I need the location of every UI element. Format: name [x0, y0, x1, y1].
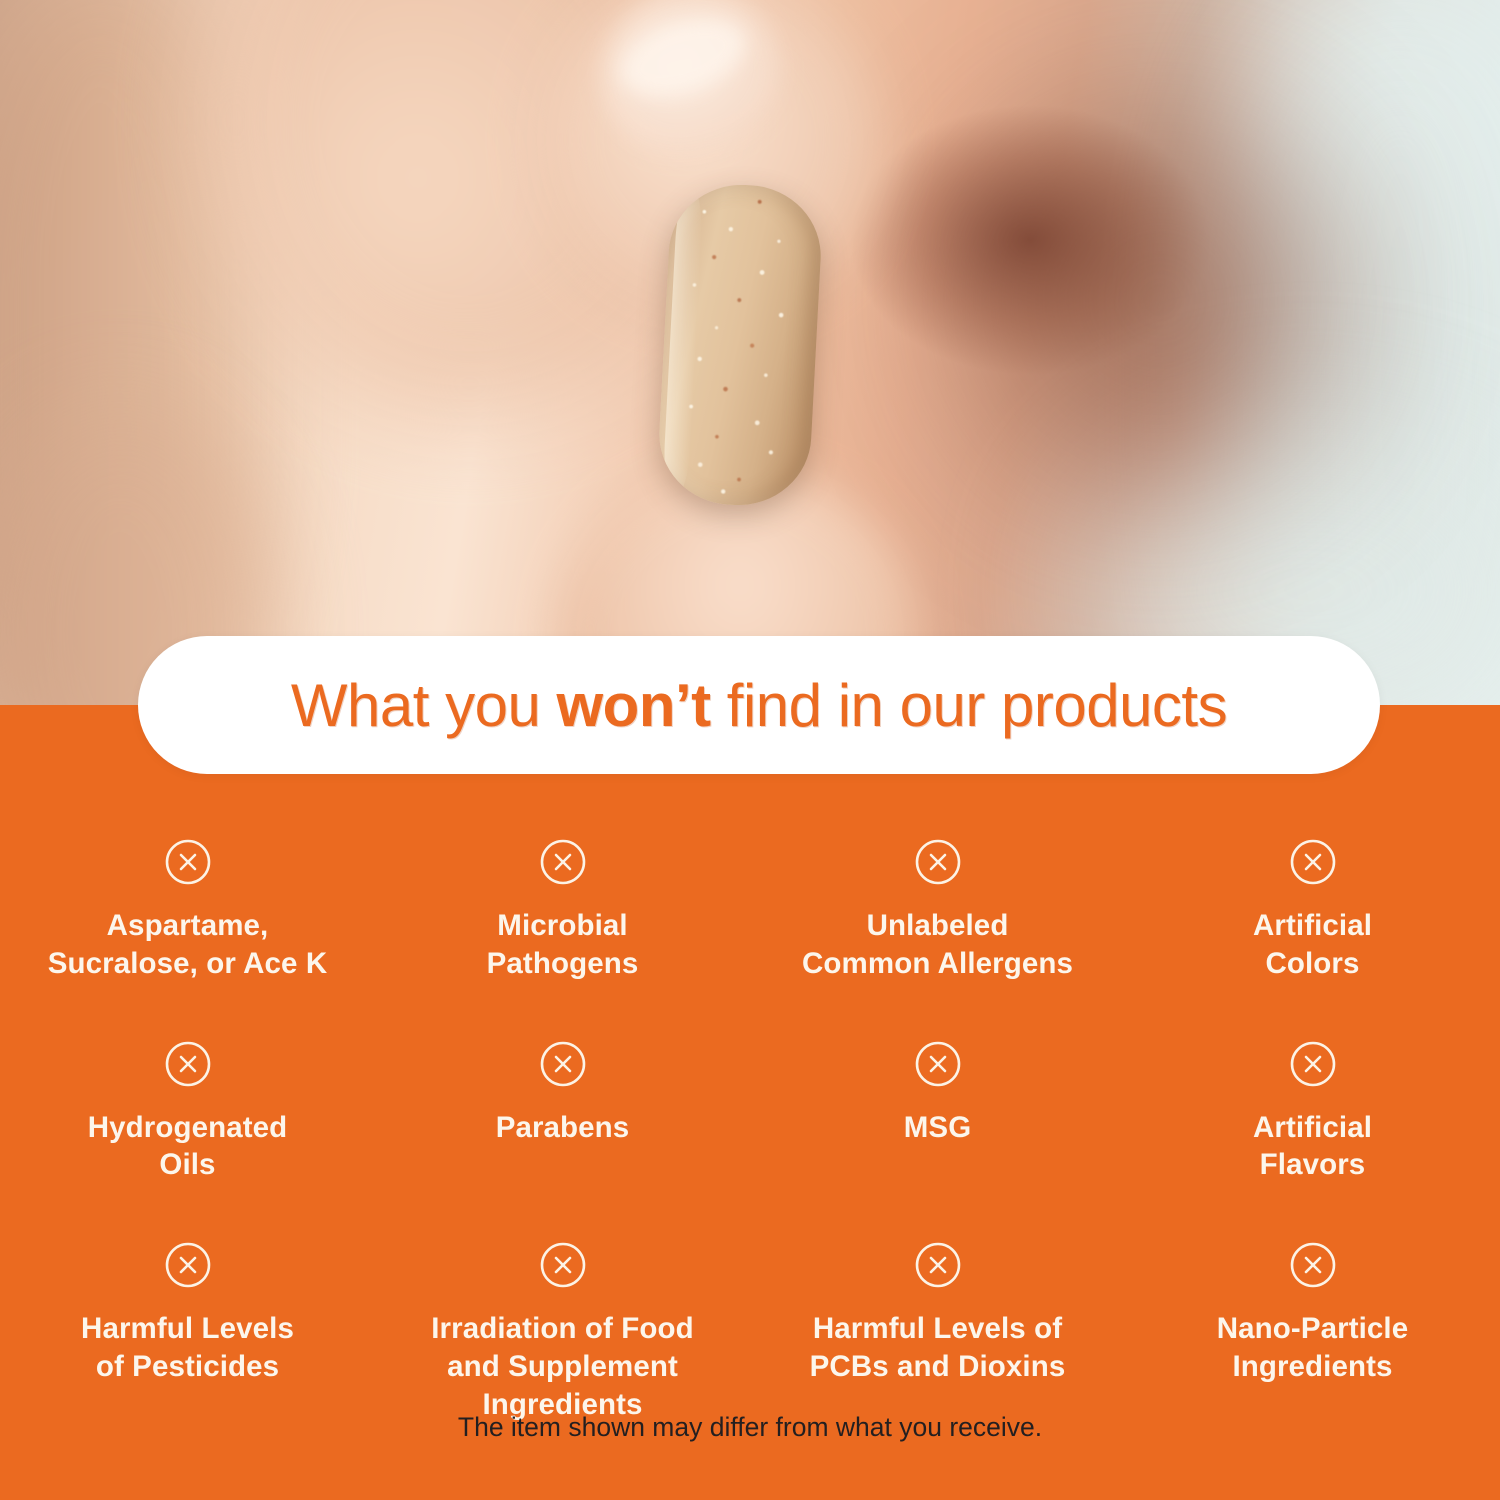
- claim-item: Unlabeled Common Allergens: [750, 823, 1125, 983]
- title-part-2: find in our products: [711, 672, 1227, 739]
- x-circle-icon: [913, 1039, 963, 1089]
- claim-item: Hydrogenated Oils: [0, 983, 375, 1185]
- hero-photo: [0, 0, 1500, 712]
- x-circle-icon: [163, 1039, 213, 1089]
- claim-item: Artificial Colors: [1125, 823, 1500, 983]
- claim-label: MSG: [904, 1109, 972, 1147]
- claim-label: Harmful Levels of Pesticides: [81, 1310, 294, 1386]
- x-circle-icon: [538, 1240, 588, 1290]
- x-circle-icon: [538, 1039, 588, 1089]
- title-card: What you won’t find in our products: [138, 636, 1380, 774]
- claim-label: Artificial Flavors: [1253, 1109, 1372, 1185]
- title-emphasis: won’t: [557, 672, 711, 739]
- claim-label: Harmful Levels of PCBs and Dioxins: [810, 1310, 1066, 1386]
- x-circle-icon: [913, 837, 963, 887]
- claim-item: Parabens: [375, 983, 750, 1185]
- claim-item: MSG: [750, 983, 1125, 1185]
- product-claims-infographic: Aspartame, Sucralose, or Ace K Microbial…: [0, 0, 1500, 1500]
- x-circle-icon: [913, 1240, 963, 1290]
- claim-label: Microbial Pathogens: [487, 907, 639, 983]
- claim-item: Harmful Levels of PCBs and Dioxins: [750, 1184, 1125, 1423]
- claim-item: Harmful Levels of Pesticides: [0, 1184, 375, 1423]
- claim-label: Hydrogenated Oils: [88, 1109, 288, 1185]
- page-title: What you won’t find in our products: [291, 671, 1227, 740]
- supplement-tablet: [656, 181, 825, 509]
- x-circle-icon: [163, 1240, 213, 1290]
- disclaimer-text: The item shown may differ from what you …: [0, 1412, 1500, 1443]
- claim-item: Microbial Pathogens: [375, 823, 750, 983]
- claim-item: Irradiation of Food and Supplement Ingre…: [375, 1184, 750, 1423]
- claim-label: Parabens: [496, 1109, 630, 1147]
- x-circle-icon: [538, 837, 588, 887]
- claim-label: Artificial Colors: [1253, 907, 1372, 983]
- title-part-1: What you: [291, 672, 557, 739]
- claim-item: Artificial Flavors: [1125, 983, 1500, 1185]
- x-circle-icon: [1288, 1240, 1338, 1290]
- claim-item: Aspartame, Sucralose, or Ace K: [0, 823, 375, 983]
- claims-grid: Aspartame, Sucralose, or Ace K Microbial…: [0, 823, 1500, 1423]
- claim-label: Irradiation of Food and Supplement Ingre…: [431, 1310, 693, 1423]
- claim-label: Unlabeled Common Allergens: [802, 907, 1073, 983]
- claim-item: Nano-Particle Ingredients: [1125, 1184, 1500, 1423]
- photo-background-shadow: [980, 120, 1340, 480]
- x-circle-icon: [163, 837, 213, 887]
- claim-label: Nano-Particle Ingredients: [1217, 1310, 1408, 1386]
- x-circle-icon: [1288, 1039, 1338, 1089]
- claims-panel: Aspartame, Sucralose, or Ace K Microbial…: [0, 705, 1500, 1500]
- x-circle-icon: [1288, 837, 1338, 887]
- claim-label: Aspartame, Sucralose, or Ace K: [48, 907, 328, 983]
